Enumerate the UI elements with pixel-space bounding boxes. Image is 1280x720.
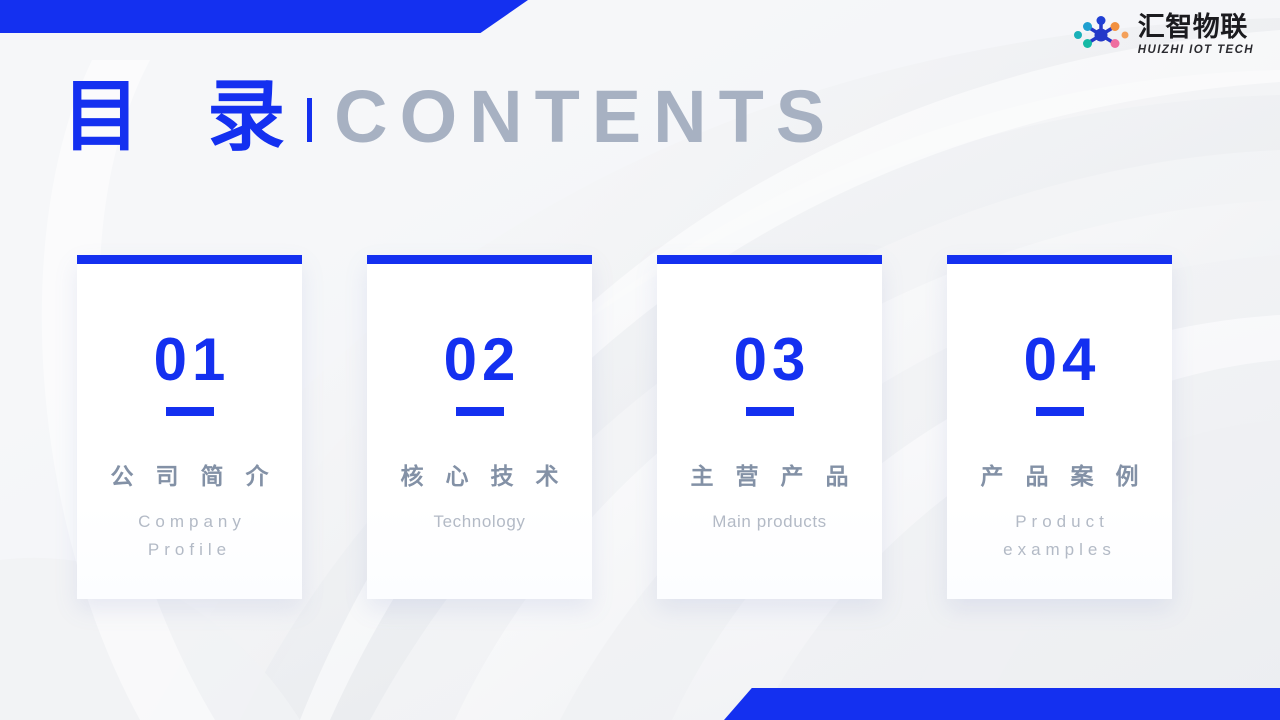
card-accent-bar	[367, 255, 592, 264]
contents-card-03[interactable]: 03 主 营 产 品 Main products	[657, 255, 882, 599]
page-title-cn: 目 录	[62, 78, 305, 156]
contents-card-04[interactable]: 04 产 品 案 例 Product examples	[947, 255, 1172, 599]
card-divider-rule	[1036, 407, 1084, 416]
card-number: 03	[729, 330, 811, 390]
card-title-en: Technology	[380, 508, 580, 537]
page-title-en: CONTENTS	[334, 80, 837, 154]
card-title-cn: 公 司 简 介	[103, 464, 275, 492]
contents-card-02[interactable]: 02 核 心 技 术 Technology	[367, 255, 592, 599]
card-divider-rule	[746, 407, 794, 416]
logo-name-cn: 汇智物联	[1138, 14, 1248, 41]
page-title: 目 录 CONTENTS	[62, 78, 837, 156]
bottom-accent-bar	[724, 688, 1280, 720]
company-logo: 汇智物联 HUIZHI IOT TECH	[1071, 14, 1254, 57]
contents-card-01[interactable]: 01 公 司 简 介 Company Profile	[77, 255, 302, 599]
card-title-en: Company Profile	[90, 508, 290, 565]
card-accent-bar	[657, 255, 882, 264]
card-number: 01	[149, 330, 231, 390]
card-title-cn: 产 品 案 例	[973, 464, 1145, 492]
card-accent-bar	[947, 255, 1172, 264]
card-divider-rule	[456, 407, 504, 416]
molecule-network-icon	[1071, 16, 1131, 54]
card-divider-rule	[166, 407, 214, 416]
title-separator	[307, 98, 312, 142]
slide-contents-page: 汇智物联 HUIZHI IOT TECH 目 录 CONTENTS 01 公 司…	[0, 0, 1280, 720]
top-accent-bar	[0, 0, 528, 33]
logo-name-en: HUIZHI IOT TECH	[1138, 45, 1254, 57]
card-title-en: Product examples	[960, 508, 1160, 565]
card-number: 04	[1019, 330, 1101, 390]
card-number: 02	[439, 330, 521, 390]
card-accent-bar	[77, 255, 302, 264]
contents-card-list: 01 公 司 简 介 Company Profile 02 核 心 技 术 Te…	[77, 255, 1172, 599]
card-title-cn: 核 心 技 术	[393, 464, 565, 492]
card-title-cn: 主 营 产 品	[683, 464, 855, 492]
card-title-en: Main products	[670, 508, 870, 537]
